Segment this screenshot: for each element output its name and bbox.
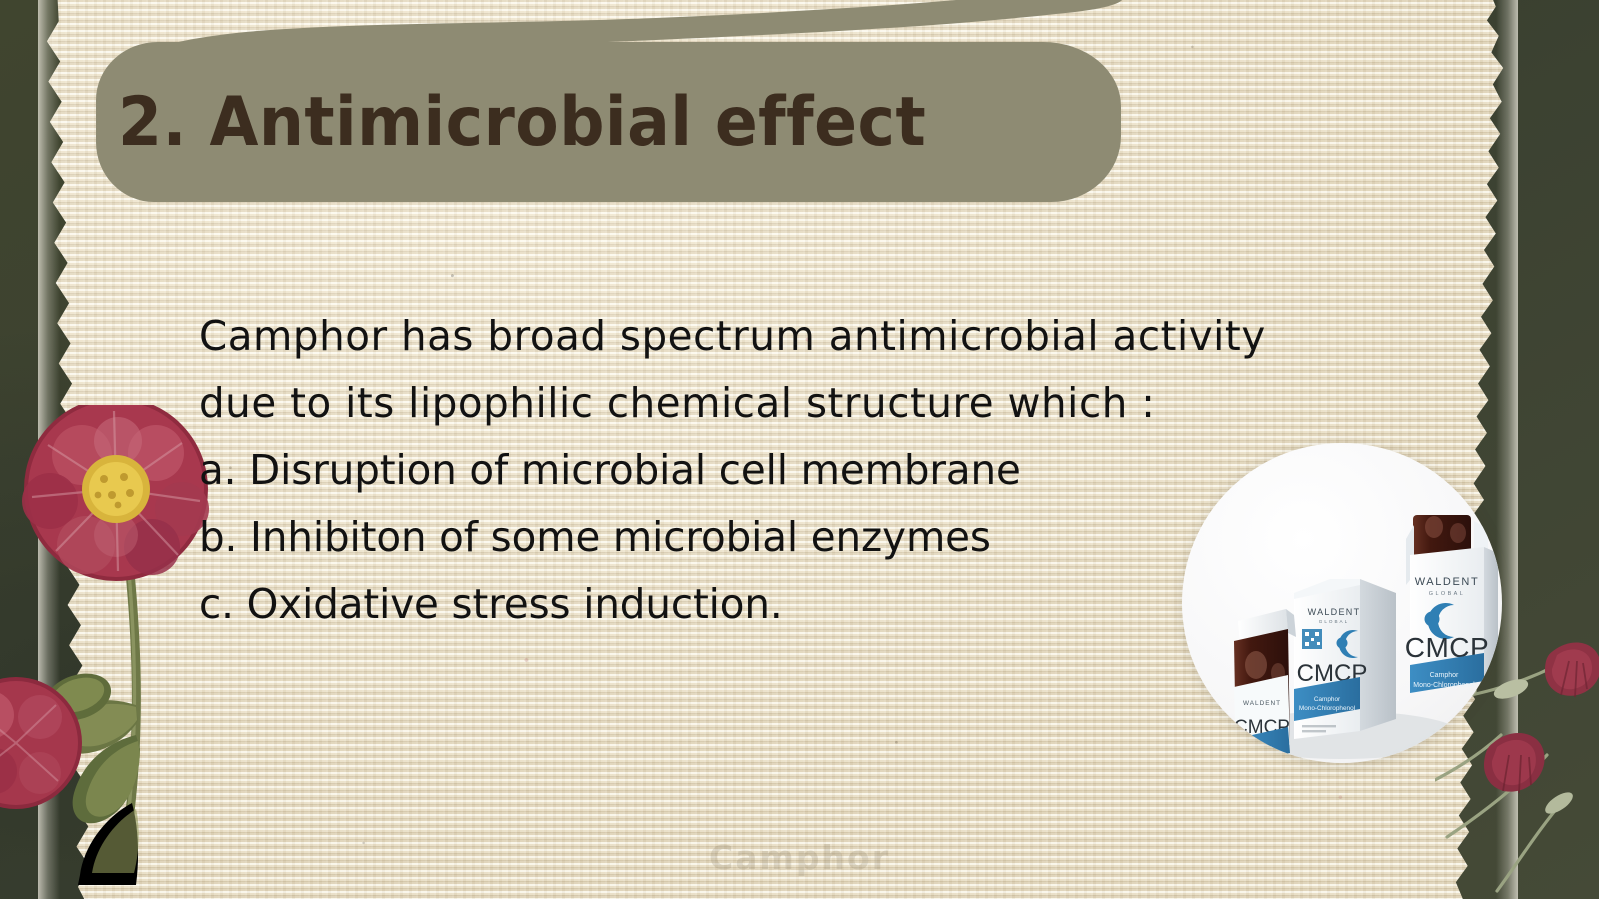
cmcp-product-image: WALDENT GLOBAL CMCP Camphor Mono-Chlorop… (1182, 443, 1502, 763)
product-subtitle-center-2: Mono-Chlorophenol (1299, 705, 1355, 712)
product-subtitle-large-1: Camphor (1430, 672, 1459, 679)
carnation-flower-upper (1545, 642, 1599, 697)
brand-text-center: WALDENT (1308, 607, 1361, 617)
brand-text-large: WALDENT (1415, 576, 1480, 588)
body-line-2: due to its lipophilic chemical structure… (199, 370, 1396, 437)
product-subtitle-center-1: Camphor (1314, 696, 1341, 703)
product-box-large: WALDENT GLOBAL CMCP Camphor Mono-Chlorop… (1405, 515, 1498, 693)
brand-sub-center: GLOBAL (1319, 619, 1349, 624)
body-line-1: Camphor has broad spectrum antimicrobial… (199, 303, 1396, 370)
qr-code (1302, 629, 1322, 649)
slide-watermark: Camphor (0, 838, 1599, 877)
page-title: 2. Antimicrobial effect (118, 52, 1039, 192)
body-line-a: a. Disruption of microbial cell membrane (199, 437, 1396, 504)
product-box-center: WALDENT GLOBAL CMCP Camphor Mono-Chlorop… (1294, 579, 1396, 739)
flower-head-primary (22, 405, 209, 581)
brand-text-bottle: WALDENT (1243, 700, 1281, 707)
brand-sub-large: GLOBAL (1429, 591, 1465, 597)
product-subtitle-large-2: Mono-Chlorophenol (1413, 682, 1475, 689)
product-photo-circle: WALDENT GLOBAL CMCP Camphor Mono-Chlorop… (1182, 443, 1502, 763)
slide-canvas: 2. Antimicrobial effect Camphor has broa… (0, 0, 1599, 899)
